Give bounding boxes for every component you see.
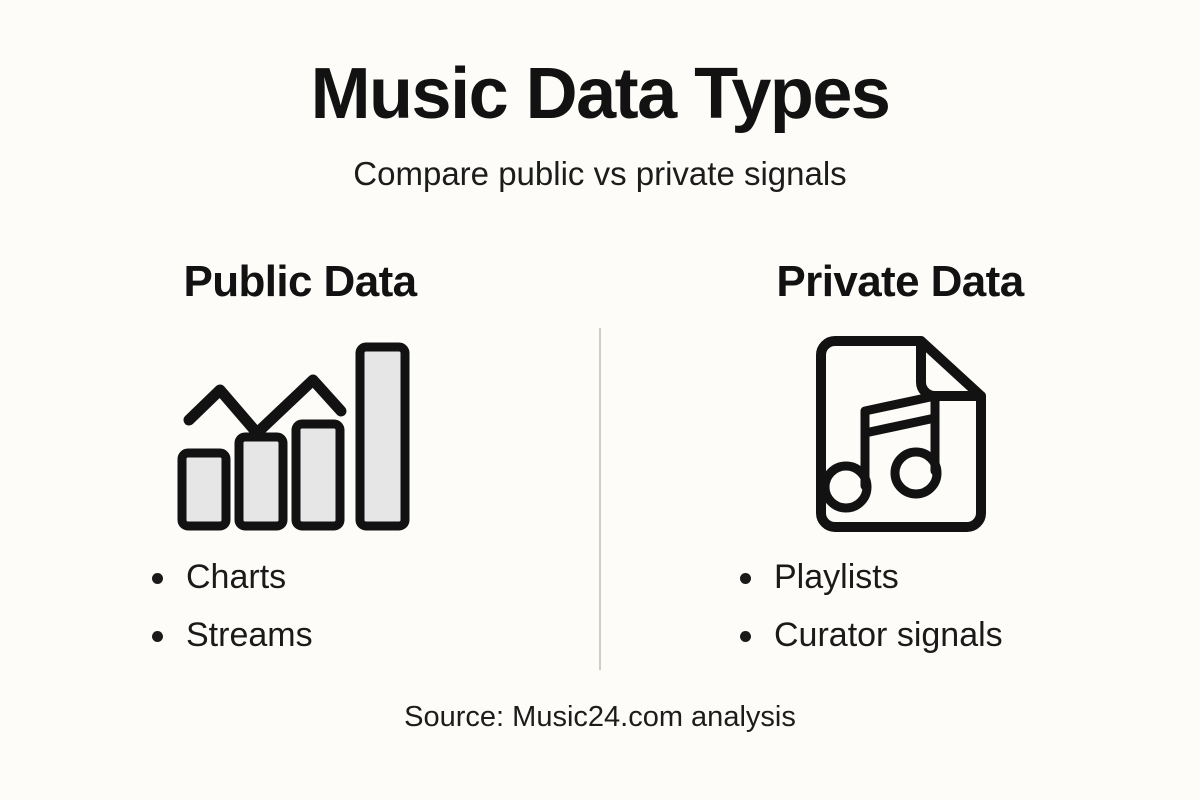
- column-heading-private: Private Data: [776, 250, 1023, 304]
- column-public-data: Public Data Charts: [0, 250, 600, 680]
- column-private-data: Private Data: [600, 250, 1200, 680]
- infographic-canvas: Music Data Types Compare public vs priva…: [0, 0, 1200, 800]
- comparison-columns: Public Data Charts: [0, 250, 1200, 680]
- list-item-label: Charts: [186, 558, 286, 596]
- bullet-dot-icon: [152, 573, 163, 584]
- source-caption: Source: Music24.com analysis: [0, 703, 1200, 732]
- page-title: Music Data Types: [0, 58, 1200, 130]
- list-item-label: Curator signals: [774, 616, 1003, 654]
- list-item: Charts: [146, 560, 476, 594]
- list-item: Streams: [146, 618, 476, 652]
- page-subtitle: Compare public vs private signals: [0, 130, 1200, 190]
- bullet-dot-icon: [740, 573, 751, 584]
- bar-chart-trend-icon: [175, 334, 425, 534]
- header: Music Data Types Compare public vs priva…: [0, 58, 1200, 190]
- list-item-label: Streams: [186, 616, 313, 654]
- bullet-list-public: Charts Streams: [124, 560, 476, 676]
- bullet-dot-icon: [740, 631, 751, 642]
- bullet-list-private: Playlists Curator signals: [706, 560, 1094, 676]
- bullet-dot-icon: [152, 631, 163, 642]
- music-document-icon: [803, 334, 998, 534]
- list-item: Curator signals: [734, 618, 1094, 652]
- list-item: Playlists: [734, 560, 1094, 594]
- column-heading-public: Public Data: [183, 250, 416, 304]
- list-item-label: Playlists: [774, 558, 899, 596]
